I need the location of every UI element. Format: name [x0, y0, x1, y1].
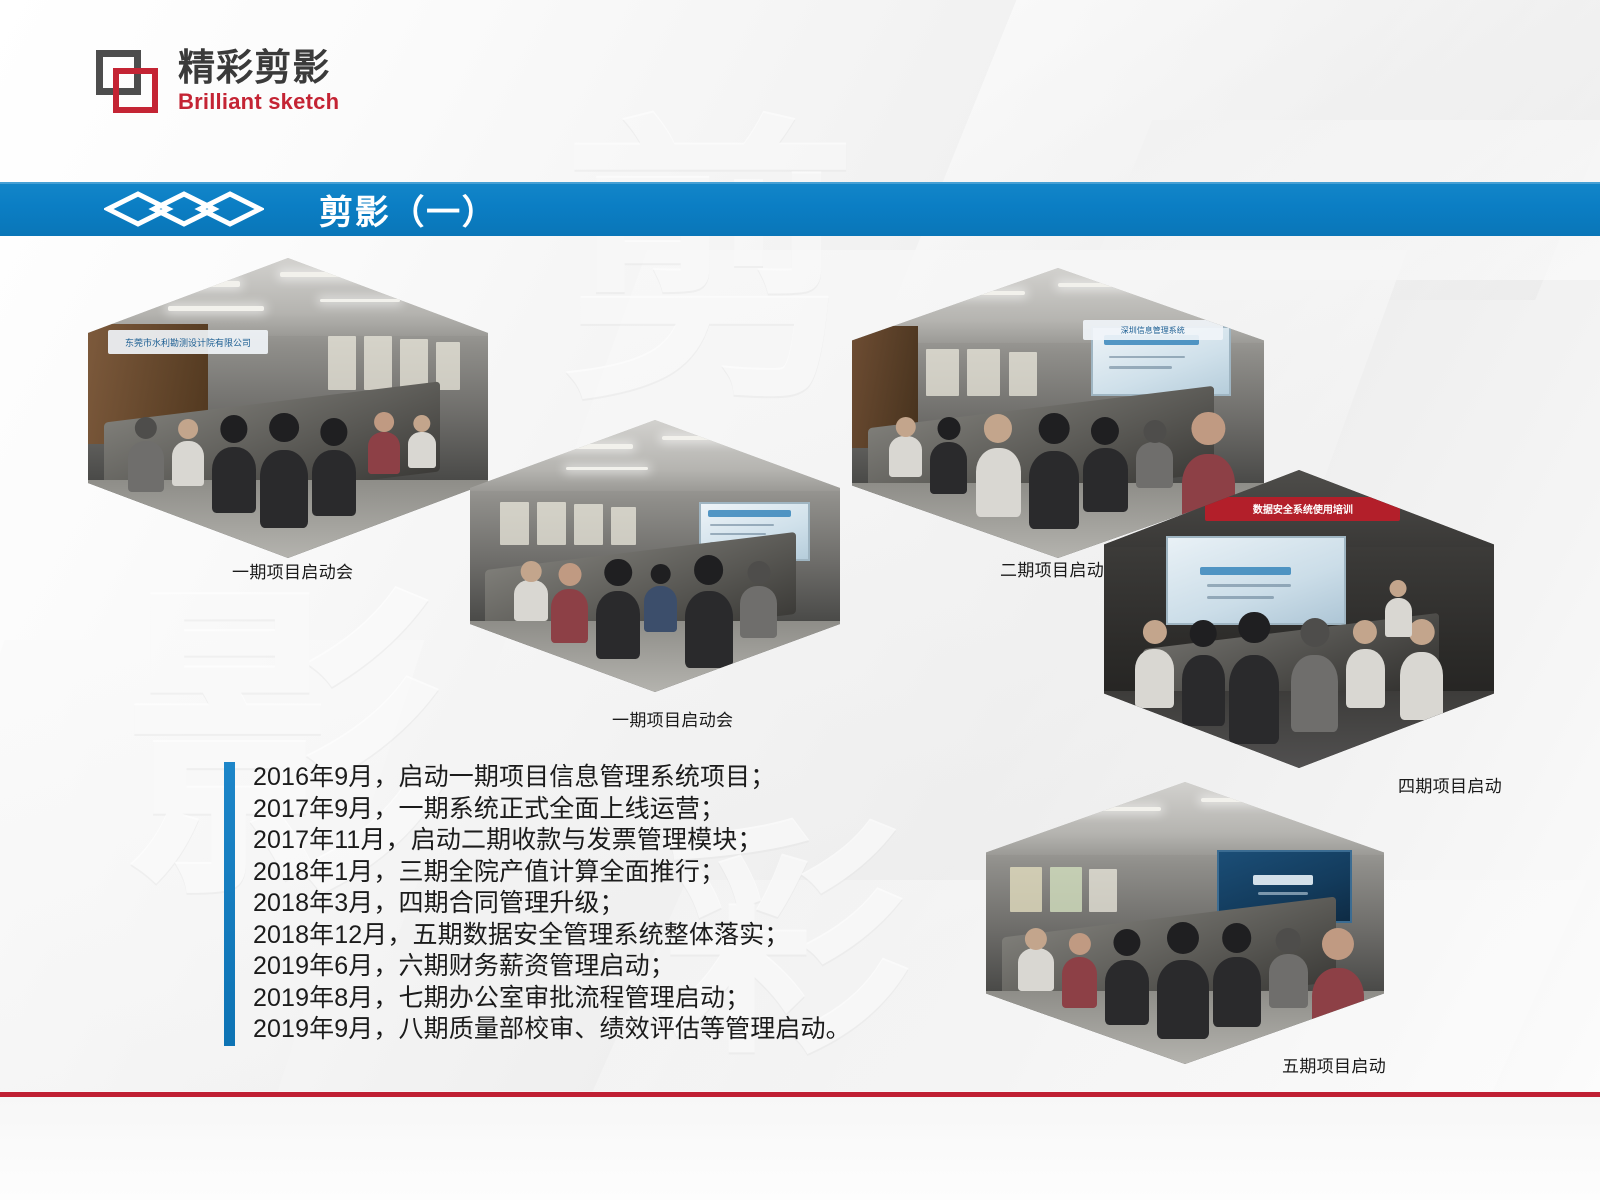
timeline-line: 2017年11月，启动二期收款与发票管理模块； [253, 825, 851, 857]
timeline-line: 2018年3月，四期合同管理升级； [253, 888, 851, 920]
meeting-photo-1: 东莞市水利勘测设计院有限公司 [88, 258, 488, 558]
brand-logo: 精彩剪影 Brilliant sketch [96, 48, 339, 115]
photo-caption-5: 五期项目启动 [1282, 1052, 1386, 1077]
timeline-accent-bar [224, 762, 235, 1046]
photo-caption-3: 二期项目启动 [1000, 556, 1104, 581]
photo-caption-4: 四期项目启动 [1398, 772, 1502, 797]
photo-banner-4: 数据安全系统使用培训 [1205, 497, 1400, 521]
bg-shard [895, 0, 1600, 300]
meeting-photo-5 [986, 782, 1384, 1064]
photo-hexagon-2[interactable] [470, 420, 840, 692]
presentation-slide: 剪 影 彩 精彩剪影 Brilliant sketch 剪影（一） [0, 0, 1600, 1200]
timeline-line: 2019年6月，六期财务薪资管理启动； [253, 951, 851, 983]
meeting-photo-2 [470, 420, 840, 692]
chevron-diamonds-icon [104, 189, 264, 229]
footer-area [0, 1097, 1600, 1200]
timeline-text-block: 2016年9月，启动一期项目信息管理系统项目； 2017年9月，一期系统正式全面… [224, 762, 851, 1046]
photo-banner-1: 东莞市水利勘测设计院有限公司 [108, 330, 268, 354]
photo-caption-1: 一期项目启动会 [232, 558, 353, 583]
timeline-line: 2016年9月，启动一期项目信息管理系统项目； [253, 762, 851, 794]
logo-square-red [113, 68, 158, 113]
timeline-line: 2019年9月，八期质量部校审、绩效评估等管理启动。 [253, 1014, 851, 1046]
logo-title-en: Brilliant sketch [178, 89, 339, 115]
section-header-bar: 剪影（一） [0, 182, 1600, 236]
watermark-glyph: 剪 [560, 130, 866, 400]
logo-title-cn: 精彩剪影 [178, 48, 339, 88]
logo-text: 精彩剪影 Brilliant sketch [178, 48, 339, 115]
photo-banner-3: 深圳信息管理系统 [1083, 320, 1223, 340]
photo-hexagon-1[interactable]: 东莞市水利勘测设计院有限公司 [88, 258, 488, 558]
timeline-line: 2017年9月，一期系统正式全面上线运营； [253, 794, 851, 826]
timeline-lines: 2016年9月，启动一期项目信息管理系统项目； 2017年9月，一期系统正式全面… [253, 762, 851, 1046]
timeline-line: 2018年12月，五期数据安全管理系统整体落实； [253, 920, 851, 952]
page-title: 剪影（一） [319, 185, 498, 234]
double-square-logo-icon [96, 50, 162, 112]
photo-caption-2: 一期项目启动会 [612, 706, 733, 731]
photo-hexagon-5[interactable] [986, 782, 1384, 1064]
timeline-line: 2018年1月，三期全院产值计算全面推行； [253, 857, 851, 889]
timeline-line: 2019年8月，七期办公室审批流程管理启动； [253, 983, 851, 1015]
